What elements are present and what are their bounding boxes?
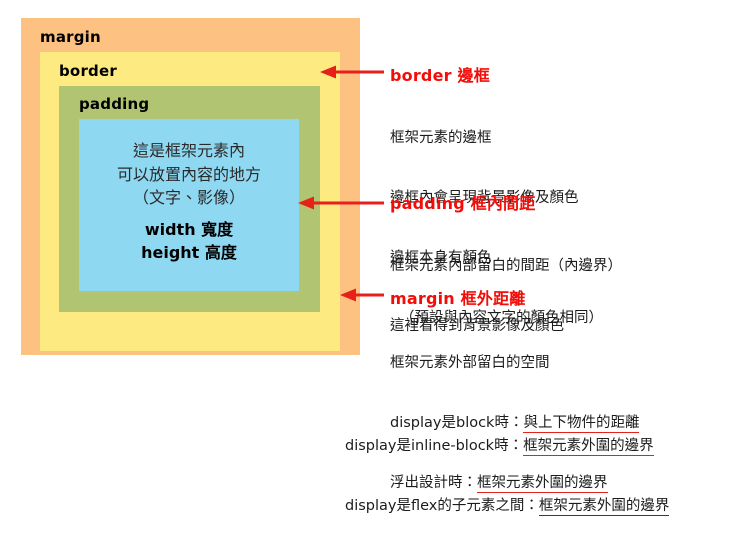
margin-line-4-prefix: display是inline-block時： bbox=[345, 438, 523, 454]
box-model-diagram: margin border padding 這是框架元素內 可以放置內容的地方 … bbox=[21, 18, 360, 355]
margin-line-4-underlined: 框架元素外圍的邊界 bbox=[523, 438, 654, 456]
padding-annotation-line-1: 框架元素內部留白的間距（內邊界） bbox=[390, 256, 622, 276]
padding-annotation-heading: padding 框內間距 bbox=[390, 190, 535, 214]
content-height-label: height 高度 bbox=[79, 241, 299, 264]
border-annotation-line-1: 框架元素的邊框 bbox=[390, 128, 603, 148]
margin-line-5-underlined: 框架元素外圍的邊界 bbox=[539, 498, 670, 516]
content-width-label: width 寬度 bbox=[79, 218, 299, 241]
margin-annotation-line-1: 框架元素外部留白的空間 bbox=[390, 353, 639, 373]
margin-annotation-line-5: display是flex的子元素之間：框架元素外圍的邊界 bbox=[345, 496, 669, 516]
margin-annotation-line-4: display是inline-block時：框架元素外圍的邊界 bbox=[345, 436, 669, 456]
border-box-label: border bbox=[59, 64, 340, 79]
margin-annotation-extra-body: display是inline-block時：框架元素外圍的邊界 display是… bbox=[345, 396, 669, 536]
padding-box-wrapper: padding 這是框架元素內 可以放置內容的地方 （文字、影像） width … bbox=[59, 86, 320, 312]
border-annotation-heading: border 邊框 bbox=[390, 62, 490, 86]
margin-annotation-heading: margin 框外距離 bbox=[390, 285, 525, 309]
margin-box-layer: margin border padding 這是框架元素內 可以放置內容的地方 … bbox=[21, 18, 360, 355]
content-text-line-1: 這是框架元素內 bbox=[79, 139, 299, 163]
margin-box-label: margin bbox=[40, 30, 360, 45]
border-box-layer: border padding 這是框架元素內 可以放置內容的地方 （文字、影像）… bbox=[40, 52, 340, 351]
padding-box-label: padding bbox=[79, 97, 320, 112]
padding-box-layer: padding 這是框架元素內 可以放置內容的地方 （文字、影像） width … bbox=[59, 86, 320, 312]
content-text-line-2: 可以放置內容的地方 bbox=[79, 163, 299, 187]
margin-line-5-prefix: display是flex的子元素之間： bbox=[345, 498, 539, 514]
content-box-layer: 這是框架元素內 可以放置內容的地方 （文字、影像） width 寬度 heigh… bbox=[79, 119, 299, 291]
border-box-wrapper: border padding 這是框架元素內 可以放置內容的地方 （文字、影像）… bbox=[40, 52, 340, 351]
content-text-line-3: （文字、影像） bbox=[79, 186, 299, 210]
